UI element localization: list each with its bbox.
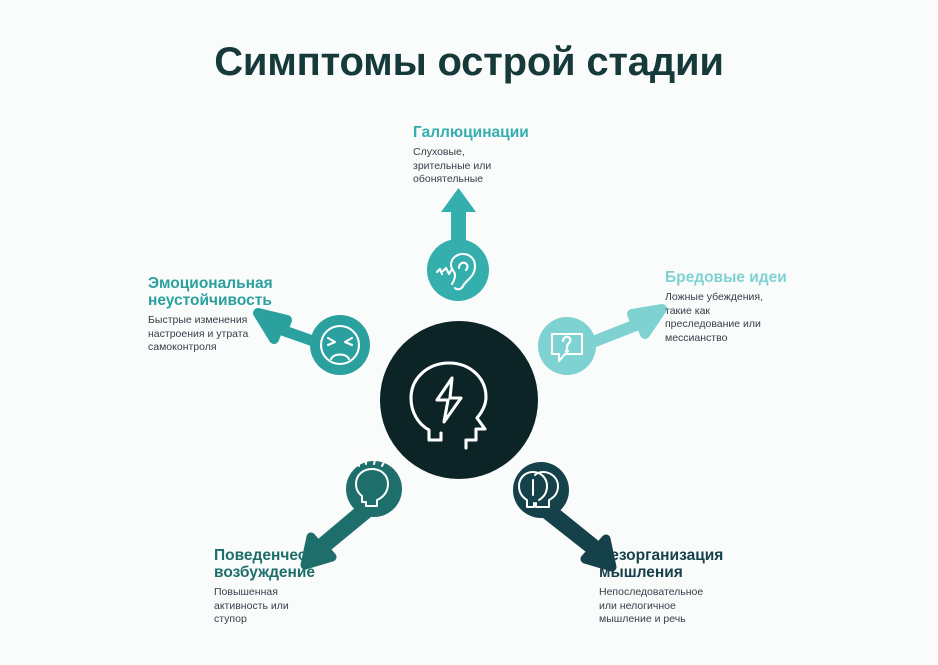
- node-body-disorganized-thinking: Непоследовательное или нелогичное мышлен…: [599, 586, 799, 627]
- node-circle-disorganized-thinking[interactable]: [513, 462, 569, 518]
- node-body-hallucinations: Слуховые, зрительные или обонятельные: [413, 146, 603, 187]
- node-label-behavioral-agitation: Поведенческое возбуждение Повышенная акт…: [214, 547, 404, 627]
- node-label-hallucinations: Галлюцинации Слуховые, зрительные или об…: [413, 124, 603, 187]
- center-node[interactable]: [380, 321, 538, 479]
- node-heading-delusional-ideas: Бредовые идеи: [665, 269, 850, 286]
- node-label-disorganized-thinking: Дезорганизация мышления Непоследовательн…: [599, 547, 799, 627]
- node-heading-disorganized-thinking: Дезорганизация мышления: [599, 547, 799, 581]
- node-circle-delusional-ideas[interactable]: [538, 317, 596, 375]
- node-heading-hallucinations: Галлюцинации: [413, 124, 603, 141]
- node-heading-emotional-instability: Эмоциональная неустойчивость: [148, 275, 326, 309]
- node-body-delusional-ideas: Ложные убеждения, такие как преследовани…: [665, 291, 850, 345]
- node-label-emotional-instability: Эмоциональная неустойчивость Быстрые изм…: [148, 275, 326, 355]
- node-heading-behavioral-agitation: Поведенческое возбуждение: [214, 547, 404, 581]
- node-body-behavioral-agitation: Повышенная активность или ступор: [214, 586, 404, 627]
- infographic-canvas: Симптомы острой стадии: [0, 0, 938, 665]
- node-label-delusional-ideas: Бредовые идеи Ложные убеждения, такие ка…: [665, 269, 850, 345]
- node-circle-behavioral-agitation[interactable]: [346, 456, 402, 517]
- node-body-emotional-instability: Быстрые изменения настроения и утрата са…: [148, 314, 326, 355]
- node-circle-hallucinations[interactable]: [427, 239, 489, 301]
